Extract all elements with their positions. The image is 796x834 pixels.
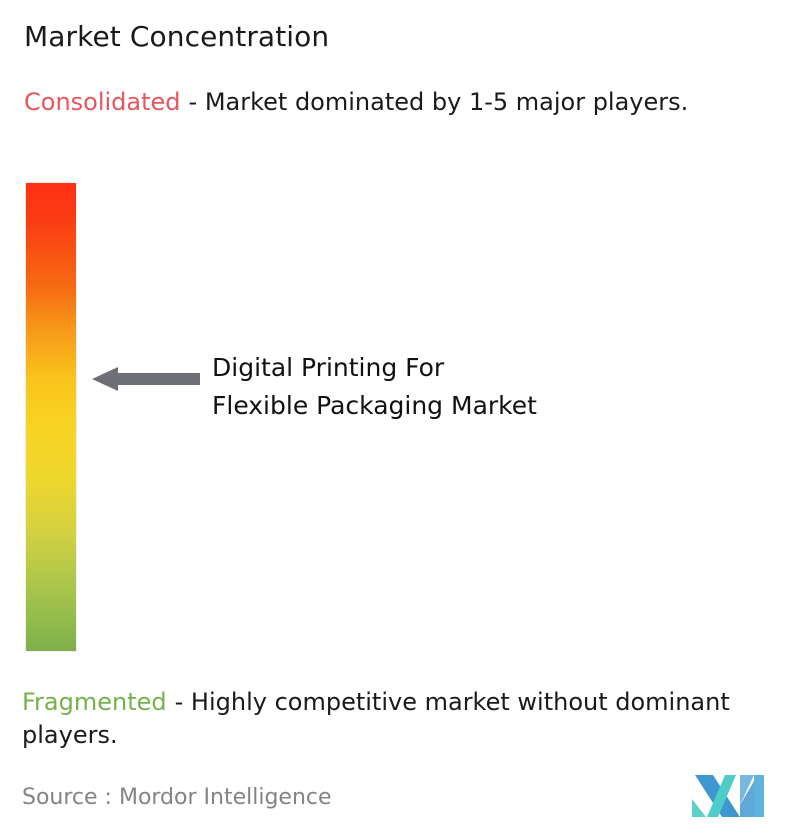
consolidated-description: Consolidated- Market dominated by 1-5 ma…: [24, 86, 768, 119]
fragmented-keyword: Fragmented: [22, 688, 167, 716]
consolidated-description-body: - Market dominated by 1-5 major players.: [189, 88, 689, 116]
consolidated-keyword: Consolidated: [24, 88, 181, 116]
left-arrow-icon: [92, 366, 200, 392]
callout-line-2: Flexible Packaging Market: [212, 387, 537, 425]
market-callout-label: Digital Printing For Flexible Packaging …: [212, 349, 537, 425]
mordor-intelligence-logo-icon: [692, 775, 764, 817]
market-concentration-infographic: Market Concentration Consolidated- Marke…: [0, 0, 796, 834]
market-concentration-gradient-bar: [26, 183, 76, 651]
source-attribution: Source : Mordor Intelligence: [22, 784, 332, 812]
callout-line-1: Digital Printing For: [212, 349, 537, 387]
fragmented-description: Fragmented- Highly competitive market wi…: [22, 686, 784, 752]
page-title: Market Concentration: [24, 20, 329, 54]
